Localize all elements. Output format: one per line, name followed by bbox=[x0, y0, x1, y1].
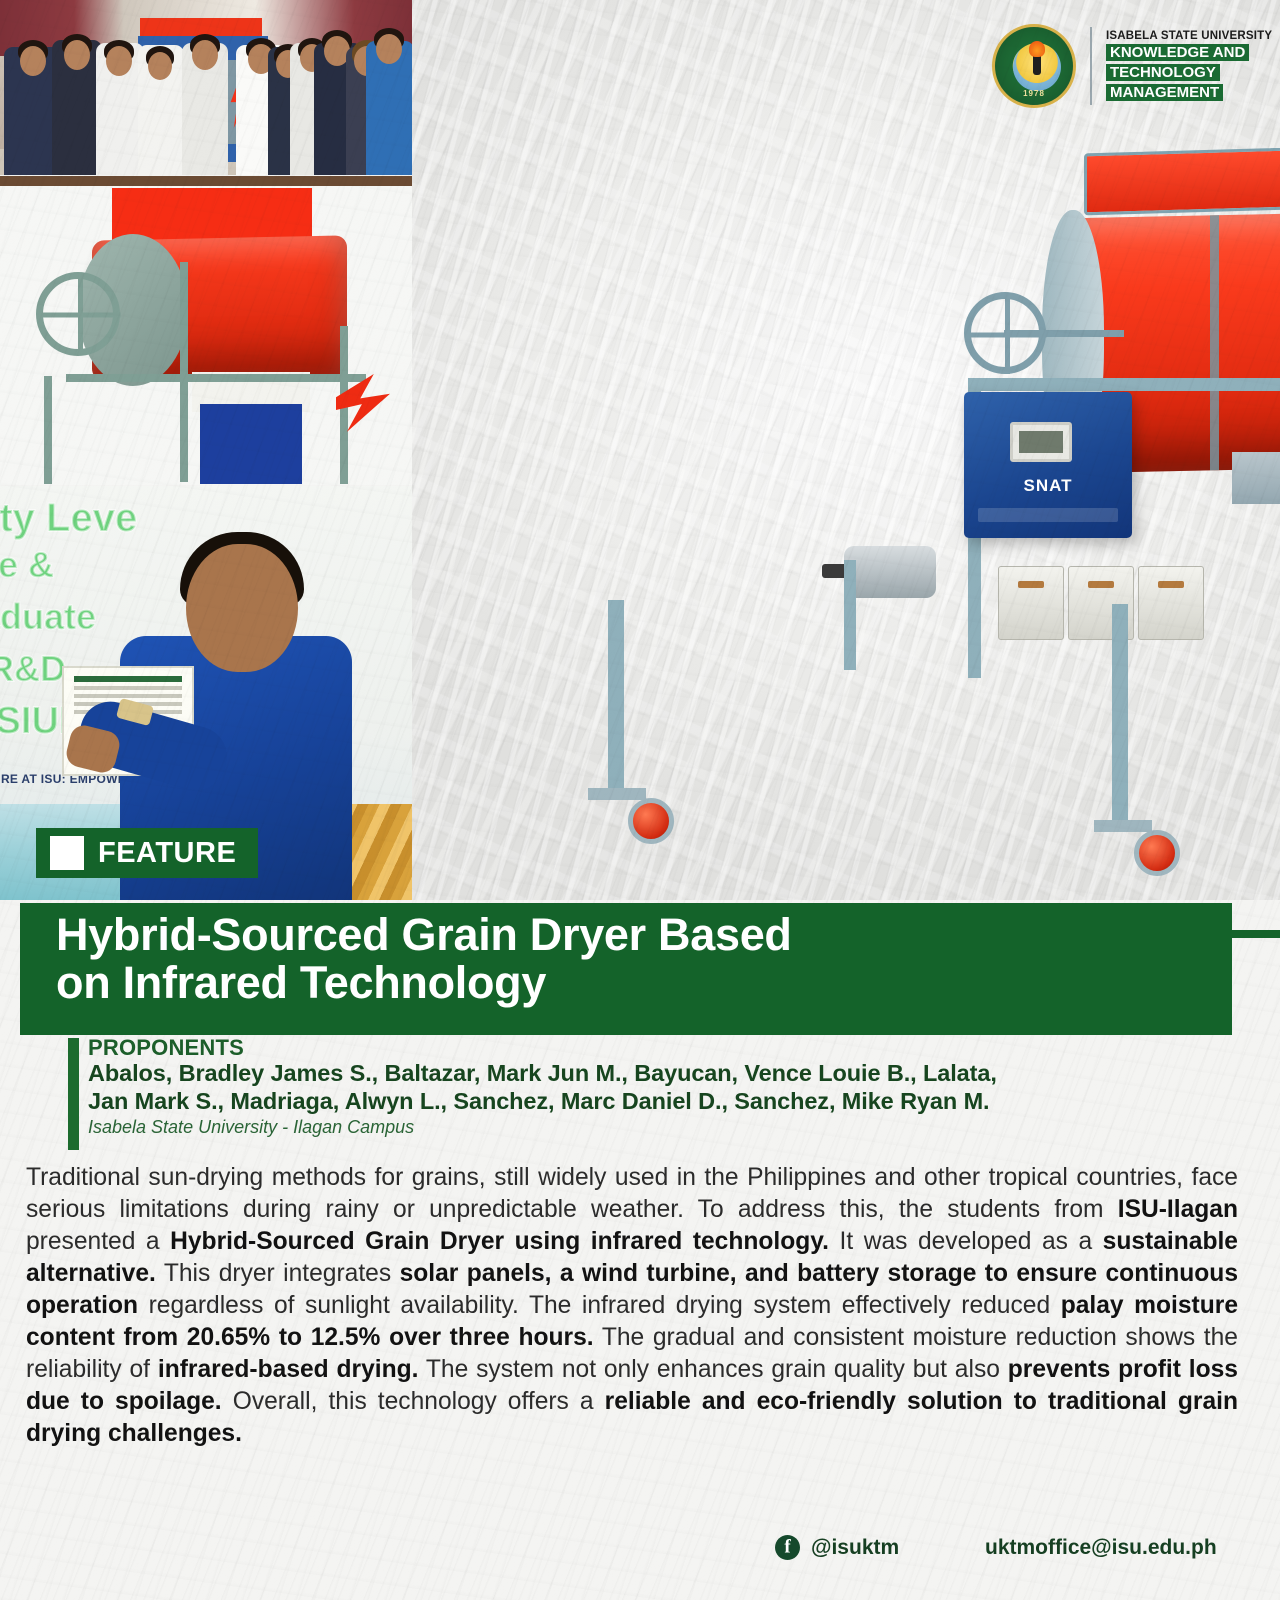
proponents-names-line-2: Jan Mark S., Madriaga, Alwyn L., Sanchez… bbox=[88, 1088, 1228, 1116]
caster-wheel-right bbox=[1134, 830, 1180, 876]
body-text: presented a bbox=[26, 1228, 170, 1255]
title-bar: Hybrid-Sourced Grain Dryer Based on Infr… bbox=[20, 903, 1232, 1035]
photo-dryer-closeup bbox=[0, 176, 412, 485]
proponents-block: PROPONENTS Abalos, Bradley James S., Bal… bbox=[68, 1036, 1228, 1138]
feature-poster: SNAT bbox=[0, 0, 1280, 1600]
feature-badge-label: FEATURE bbox=[98, 839, 236, 868]
leg-front-left bbox=[608, 600, 624, 790]
facebook-contact[interactable]: @isuktm bbox=[775, 1535, 899, 1560]
article-body: Traditional sun-drying methods for grain… bbox=[26, 1162, 1238, 1450]
leg-mid bbox=[844, 560, 856, 670]
seal-year: 1978 bbox=[995, 89, 1073, 98]
body-text: It was developed as a bbox=[829, 1228, 1103, 1255]
photo-group-with-dryer bbox=[0, 0, 412, 175]
caster-plate-left bbox=[588, 788, 646, 800]
footer: @isuktm uktmoffice@isu.edu.ph bbox=[0, 1535, 1280, 1575]
battery-3 bbox=[1138, 566, 1204, 640]
frame-rail-top bbox=[968, 378, 1280, 391]
body-emphasis: infrared-based drying. bbox=[158, 1356, 419, 1383]
battery-1 bbox=[998, 566, 1064, 640]
body-text: regardless of sunlight availability. The… bbox=[138, 1292, 1061, 1319]
wheel-shaft bbox=[1004, 330, 1124, 337]
banner-line-4: t R&D bbox=[0, 648, 66, 690]
hero-photo-grain-dryer: SNAT bbox=[412, 0, 1280, 900]
facebook-icon[interactable] bbox=[775, 1535, 800, 1560]
contact-email[interactable]: uktmoffice@isu.edu.ph bbox=[985, 1536, 1217, 1560]
logo-divider bbox=[1090, 27, 1092, 105]
proponents-label: PROPONENTS bbox=[88, 1036, 1228, 1060]
proponents-campus: Isabela State University - Ilagan Campus bbox=[88, 1117, 1228, 1138]
proponents-names-line-1: Abalos, Bradley James S., Baltazar, Mark… bbox=[88, 1060, 1228, 1088]
controller-brand-label: SNAT bbox=[964, 476, 1132, 496]
proponents-accent-bar bbox=[68, 1038, 79, 1150]
org-name-block: ISABELA STATE UNIVERSITY KNOWLEDGE AND T… bbox=[1106, 30, 1272, 102]
body-text: The system not only enhances grain quali… bbox=[419, 1356, 1008, 1383]
isu-ktm-logo-lockup: 1978 ISABELA STATE UNIVERSITY KNOWLEDGE … bbox=[992, 24, 1272, 108]
org-line-2: KNOWLEDGE AND bbox=[1106, 44, 1249, 61]
feature-square-icon bbox=[50, 836, 84, 870]
facebook-handle[interactable]: @isuktm bbox=[811, 1536, 899, 1560]
body-emphasis: ISU-Ilagan bbox=[1118, 1196, 1238, 1223]
title-line-2: on Infrared Technology bbox=[56, 957, 546, 1008]
banner-line-2: ate & bbox=[0, 544, 54, 586]
body-text: This dryer integrates bbox=[156, 1260, 400, 1287]
air-duct bbox=[1232, 452, 1280, 504]
title-line-1: Hybrid-Sourced Grain Dryer Based bbox=[56, 909, 792, 960]
banner-line-1: sity Leve bbox=[0, 496, 137, 541]
body-emphasis: Hybrid-Sourced Grain Dryer using infrare… bbox=[170, 1228, 829, 1255]
isu-seal-icon: 1978 bbox=[992, 24, 1076, 108]
controller-label-strip bbox=[978, 508, 1118, 522]
title-bar-tab bbox=[1232, 930, 1280, 938]
caster-wheel-left bbox=[628, 798, 674, 844]
org-line-1: ISABELA STATE UNIVERSITY bbox=[1106, 30, 1272, 42]
org-line-4: MANAGEMENT bbox=[1106, 84, 1223, 101]
drive-motor bbox=[844, 546, 936, 598]
leg-front-right bbox=[1112, 604, 1128, 822]
caster-plate-right bbox=[1094, 820, 1152, 832]
solar-charge-controller: SNAT bbox=[964, 392, 1132, 538]
photo-collage: SNAT bbox=[0, 0, 1280, 900]
org-line-3: TECHNOLOGY bbox=[1106, 64, 1220, 81]
feature-badge: FEATURE bbox=[36, 828, 258, 878]
controller-display bbox=[1010, 422, 1072, 462]
banner-line-3: raduate bbox=[0, 596, 96, 638]
body-text: Overall, this technology offers a bbox=[222, 1388, 605, 1415]
page-title: Hybrid-Sourced Grain Dryer Based on Infr… bbox=[56, 911, 1232, 1006]
body-text: Traditional sun-drying methods for grain… bbox=[26, 1164, 1238, 1223]
